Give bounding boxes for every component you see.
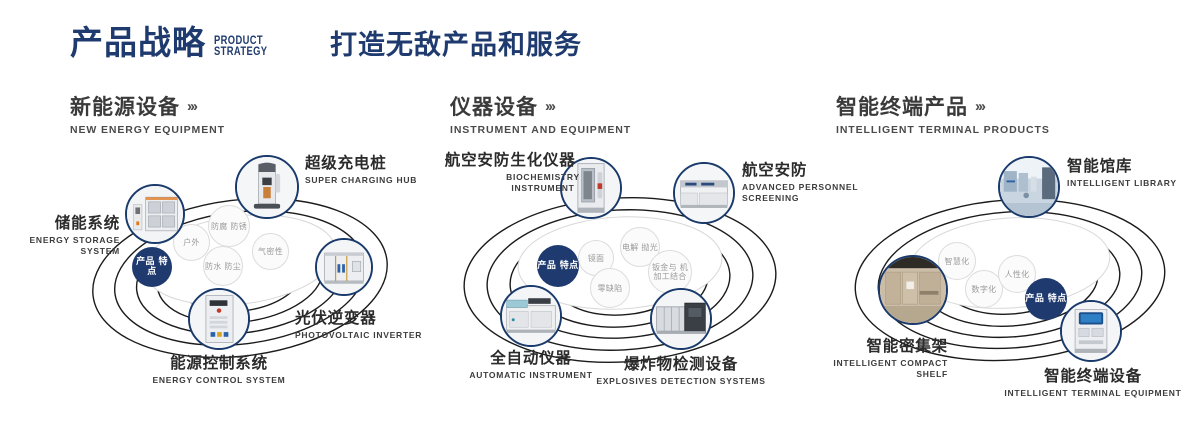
- explosives-detection-systems-image: [652, 290, 710, 348]
- node-label-cn: 能源控制系统: [89, 355, 349, 373]
- section-title-instrument: 仪器设备››› INSTRUMENT AND EQUIPMENT: [450, 96, 631, 136]
- node-intelligent-terminal-equipment[interactable]: [1060, 300, 1122, 362]
- node-label-cn: 智能密集架: [768, 338, 948, 356]
- photovoltaic-inverter-image: [317, 240, 371, 294]
- node-automatic-instrument[interactable]: [500, 285, 562, 347]
- node-super-charging-hub[interactable]: [235, 155, 299, 219]
- chevron-right-icon: ›››: [975, 98, 984, 115]
- core-badge-product-features: 产品 特点: [1025, 278, 1067, 320]
- label-intelligent-compact-shelf: 智能密集架 INTELLIGENT COMPACT SHELF: [768, 338, 948, 380]
- energy-storage-system-image: [127, 186, 183, 242]
- label-intelligent-library: 智能馆库 INTELLIGENT LIBRARY: [1067, 158, 1200, 189]
- product-strategy-infographic: 产品战略 PRODUCT STRATEGY 打造无敌产品和服务 新能源设备›››…: [0, 0, 1200, 422]
- core-badge-product-features: 产品 特点: [537, 245, 579, 287]
- cluster-instrument: 镜面 电解 抛光 零缺陷 钣金与 机加工结合 产品 特点 航空安防 生化仪器 B…: [430, 160, 810, 395]
- node-label-en: BIOCHEMISTRY INSTRUMENT: [480, 172, 606, 194]
- node-label-en: ENERGY STORAGE SYSTEM: [0, 235, 120, 257]
- label-biochemistry-instrument: 生化仪器 BIOCHEMISTRY INSTRUMENT: [480, 152, 606, 194]
- section-title-en: INTELLIGENT TERMINAL PRODUCTS: [836, 124, 1050, 136]
- automatic-instrument-image: [502, 287, 560, 345]
- section-title-cn: 智能终端产品: [836, 96, 968, 119]
- feature-bubble: 气密性: [252, 233, 289, 270]
- section-title-cn: 仪器设备: [450, 96, 538, 119]
- chevron-right-icon: ›››: [187, 98, 196, 115]
- page-title-en: PRODUCT STRATEGY: [214, 35, 267, 57]
- super-charging-hub-image: [237, 157, 297, 217]
- node-label-en: INTELLIGENT LIBRARY: [1067, 178, 1200, 189]
- node-intelligent-library[interactable]: [998, 156, 1060, 218]
- node-label-cn: 智能终端设备: [980, 368, 1200, 386]
- cluster-intelligent-terminal: 智慧化 数字化 人性化 产品 特点 智能馆库 INTELLIGENT LIBRA…: [820, 160, 1200, 395]
- node-energy-control-system[interactable]: [188, 288, 250, 350]
- page-title: 产品战略: [70, 26, 206, 59]
- chevron-right-icon: ›››: [545, 98, 554, 115]
- node-label-en: INTELLIGENT TERMINAL EQUIPMENT: [980, 388, 1200, 399]
- node-label-en: ENERGY CONTROL SYSTEM: [89, 375, 349, 386]
- intelligent-terminal-equipment-image: [1062, 302, 1120, 360]
- node-intelligent-compact-shelf[interactable]: [878, 255, 948, 325]
- intelligent-compact-shelf-image: [880, 257, 946, 323]
- label-intelligent-terminal-equipment: 智能终端设备 INTELLIGENT TERMINAL EQUIPMENT: [980, 368, 1200, 399]
- core-badge-product-features: 产品 特点: [132, 247, 172, 287]
- page-slogan: 打造无敌产品和服务: [330, 32, 582, 59]
- advanced-personnel-screening-image: [675, 164, 733, 222]
- node-energy-storage-system[interactable]: [125, 184, 185, 244]
- node-label-en: INTELLIGENT COMPACT SHELF: [768, 358, 948, 380]
- section-title-new-energy: 新能源设备››› NEW ENERGY EQUIPMENT: [70, 96, 225, 136]
- node-label-cn: 储能系统: [0, 215, 120, 233]
- node-label-cn: 智能馆库: [1067, 158, 1200, 176]
- node-label-en: AUTOMATIC INSTRUMENT: [420, 370, 642, 381]
- section-title-en: INSTRUMENT AND EQUIPMENT: [450, 124, 631, 136]
- section-title-en: NEW ENERGY EQUIPMENT: [70, 124, 225, 136]
- section-title-cn: 新能源设备: [70, 96, 180, 119]
- page-header: 产品战略 PRODUCT STRATEGY: [70, 26, 282, 59]
- label-energy-control-system: 能源控制系统 ENERGY CONTROL SYSTEM: [89, 355, 349, 386]
- section-title-intelligent-terminal: 智能终端产品››› INTELLIGENT TERMINAL PRODUCTS: [836, 96, 1050, 136]
- feature-bubble: 零缺陷: [590, 268, 630, 308]
- energy-control-system-image: [190, 290, 248, 348]
- node-explosives-detection-systems[interactable]: [650, 288, 712, 350]
- cluster-new-energy: 户外 防腐 防锈 防水 防尘 气密性 产品 特点 储能系统 ENERGY STO…: [60, 160, 420, 390]
- node-label-cn: 全自动仪器: [420, 350, 642, 368]
- node-label-cn: 生化仪器: [480, 152, 606, 170]
- node-photovoltaic-inverter[interactable]: [315, 238, 373, 296]
- feature-bubble: 防水 防尘: [203, 246, 243, 286]
- label-automatic-instrument: 全自动仪器 AUTOMATIC INSTRUMENT: [420, 350, 642, 381]
- node-advanced-personnel-screening[interactable]: [673, 162, 735, 224]
- node-label-en: SUPER CHARGING HUB: [305, 175, 445, 186]
- intelligent-library-image: [1000, 158, 1058, 216]
- label-energy-storage-system: 储能系统 ENERGY STORAGE SYSTEM: [0, 215, 120, 257]
